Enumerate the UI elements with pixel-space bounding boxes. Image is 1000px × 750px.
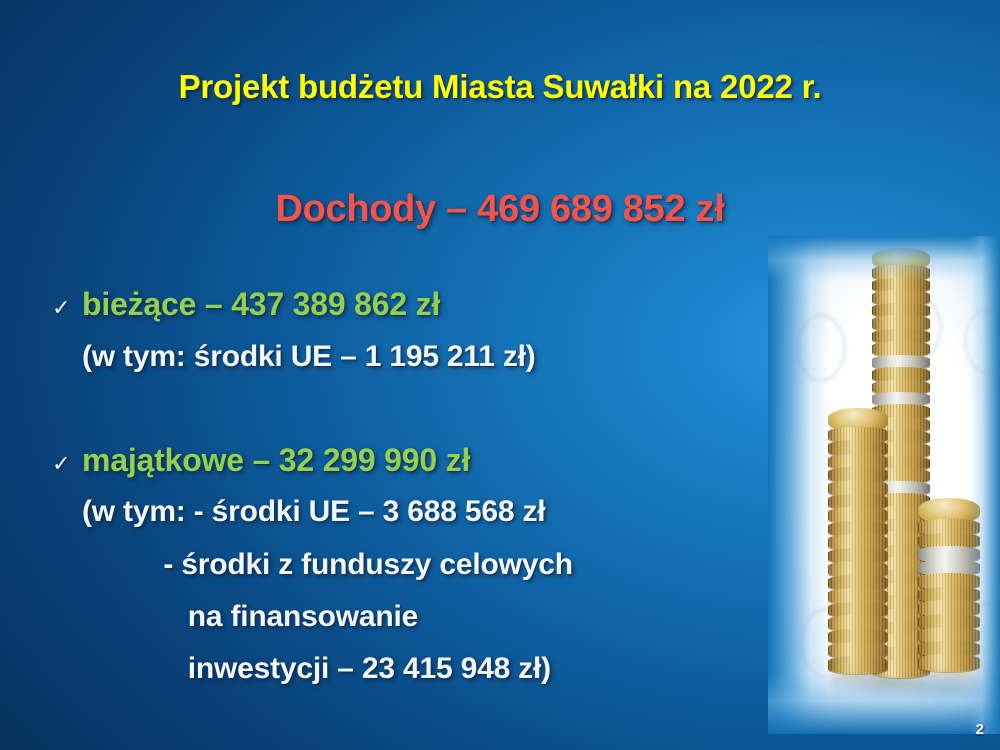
- slide: Projekt budżetu Miasta Suwałki na 2022 r…: [0, 0, 1000, 750]
- bullet-item-majatkowe: ✓ majątkowe – 32 299 990 zł: [52, 442, 470, 479]
- image-fade-right: [970, 236, 1000, 734]
- bullet-note: - środki z funduszy celowych: [82, 548, 573, 582]
- bullet-label: majątkowe – 32 299 990 zł: [82, 442, 470, 479]
- coin-stack-left: [828, 408, 888, 690]
- bullet-note: inwestycji – 23 415 948 zł): [82, 652, 551, 686]
- bullet-note: (w tym: środki UE – 1 195 211 zł): [82, 340, 536, 374]
- check-icon: ✓: [52, 297, 82, 319]
- bullet-note: na finansowanie: [82, 600, 418, 634]
- slide-subtitle: Dochody – 469 689 852 zł: [0, 188, 1000, 231]
- image-fade-bottom: [768, 674, 1000, 734]
- image-fade-left: [768, 236, 830, 734]
- bullet-label: bieżące – 437 389 862 zł: [82, 286, 440, 323]
- image-fade-top: [768, 236, 1000, 280]
- slide-number: 2: [976, 721, 984, 738]
- bullet-note: (w tym: - środki UE – 3 688 568 zł: [82, 495, 545, 529]
- slide-title: Projekt budżetu Miasta Suwałki na 2022 r…: [0, 68, 1000, 106]
- coin-stacks-image: [768, 236, 1000, 734]
- bullet-item-biezace: ✓ bieżące – 437 389 862 zł: [52, 286, 440, 323]
- check-icon: ✓: [52, 453, 82, 475]
